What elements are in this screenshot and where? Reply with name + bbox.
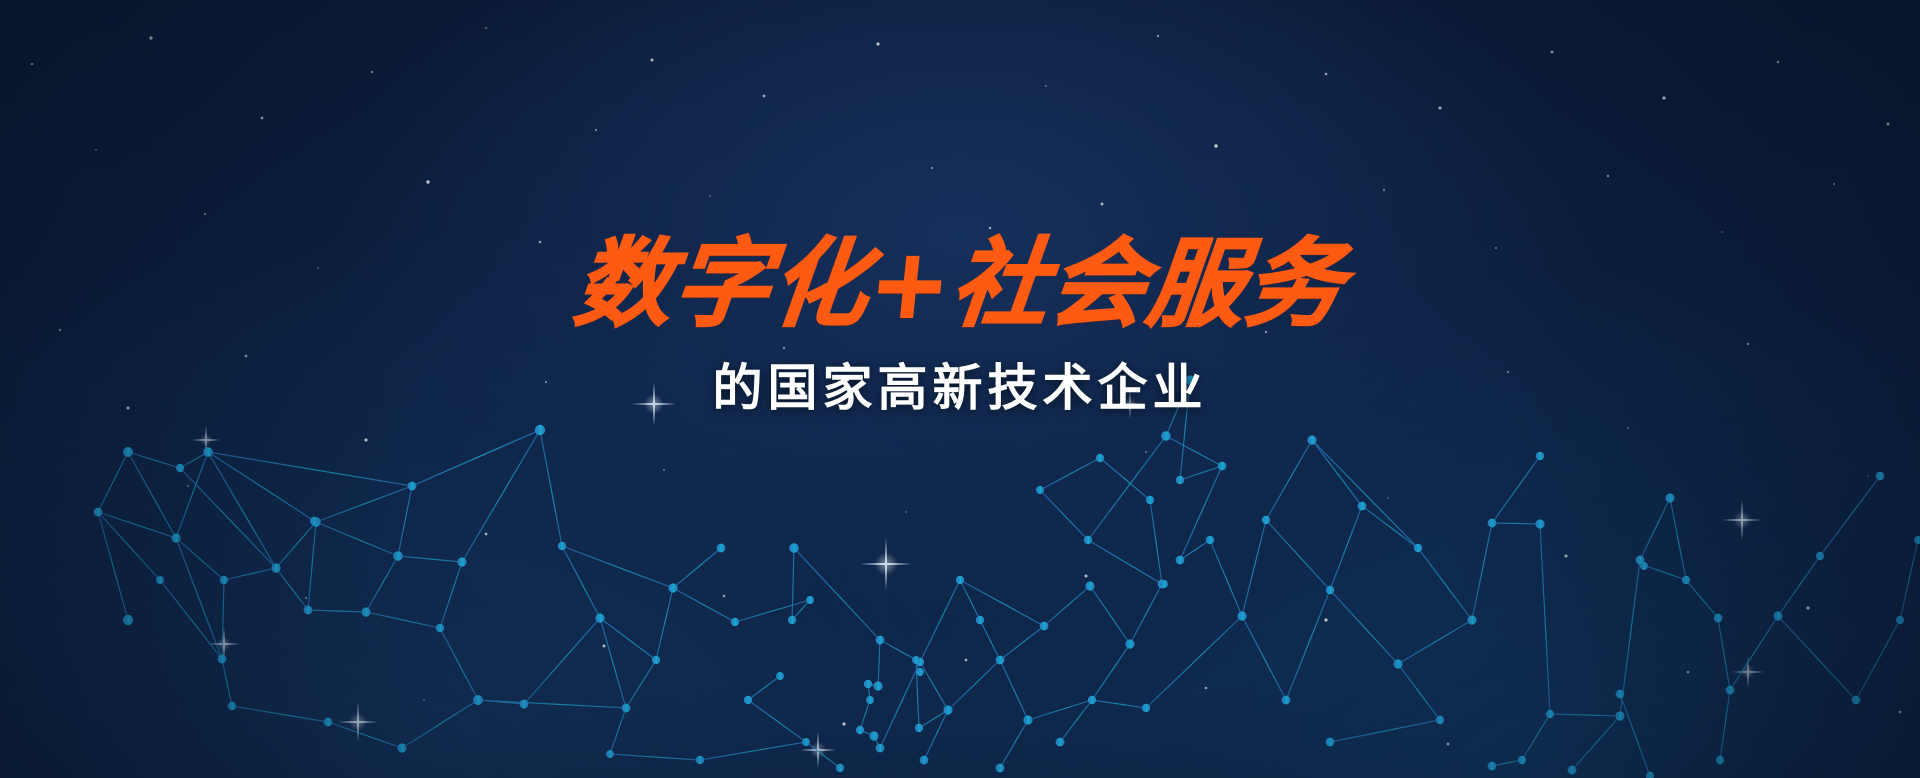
page-title: 数字化+社会服务: [0, 236, 1920, 334]
page-subtitle: 的国家高新技术企业: [0, 348, 1920, 420]
hero-banner: 数字化+社会服务 的国家高新技术企业: [0, 0, 1920, 778]
hero-text-block: 数字化+社会服务 的国家高新技术企业: [0, 236, 1920, 420]
